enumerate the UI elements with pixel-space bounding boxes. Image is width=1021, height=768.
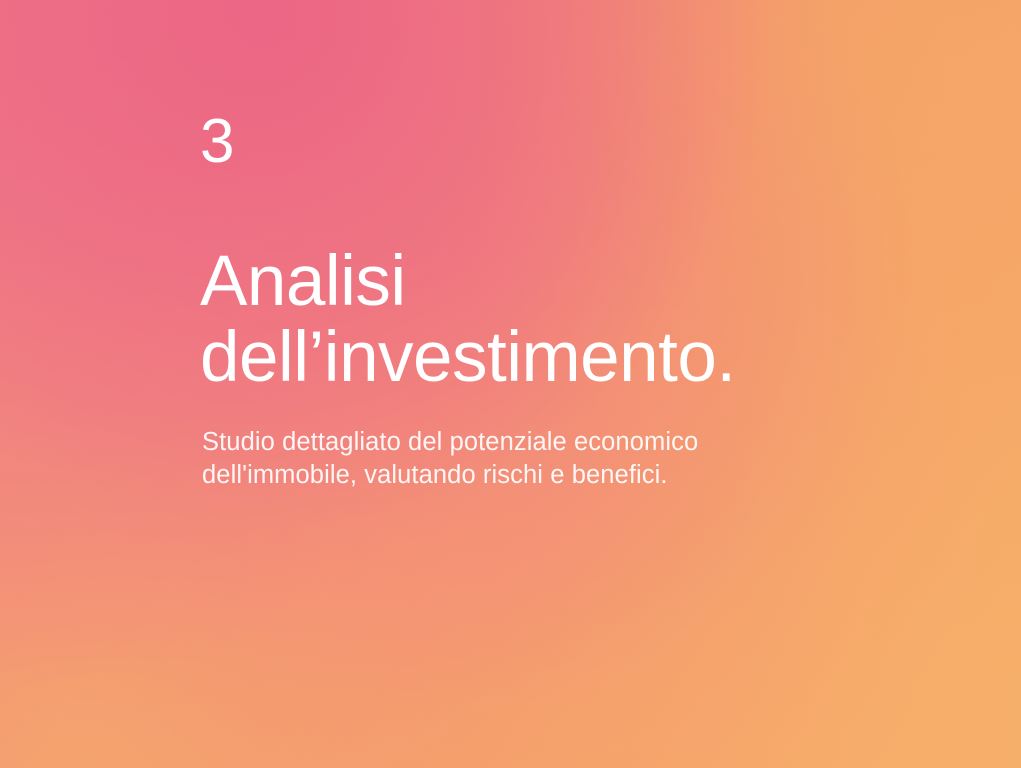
slide-subtitle: Studio dettagliato del potenziale econom… (202, 426, 698, 491)
section-number: 3 (200, 111, 235, 173)
slide-content: 3 Analisi dell’investimento. Studio dett… (200, 0, 960, 768)
slide-title: Analisi dell’investimento. (200, 244, 736, 396)
presentation-slide: 3 Analisi dell’investimento. Studio dett… (0, 0, 1021, 768)
